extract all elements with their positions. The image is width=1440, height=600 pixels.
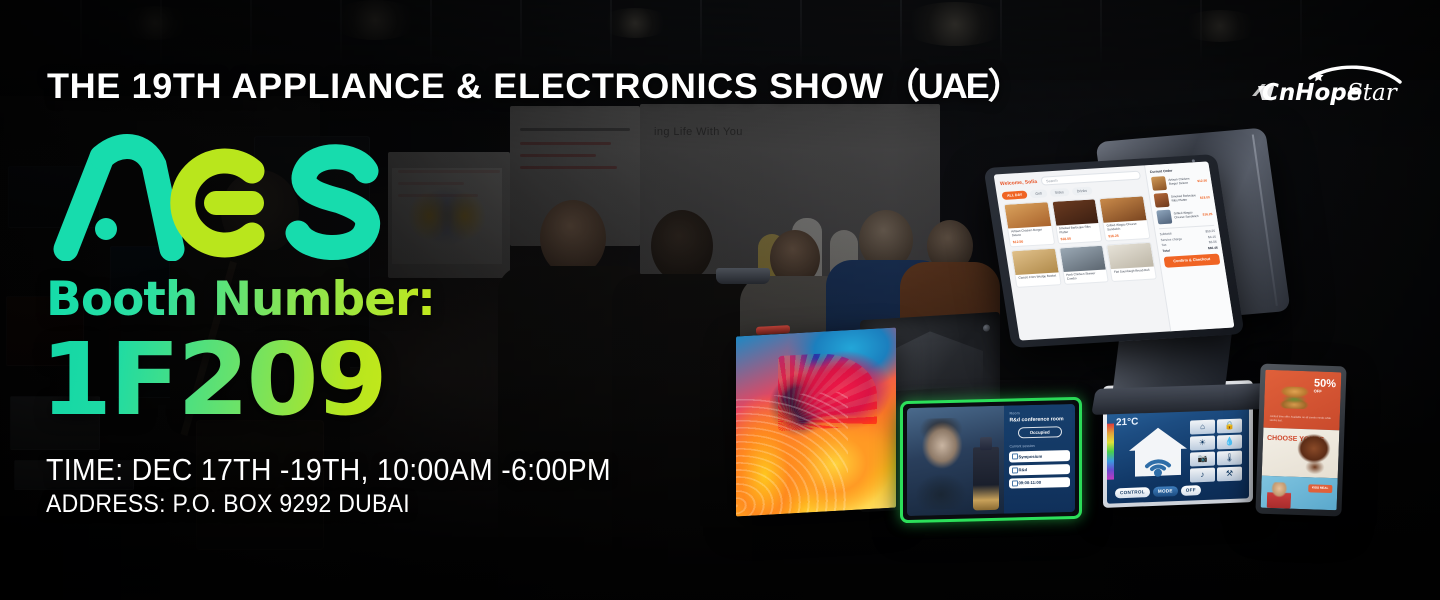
event-time: TIME: DEC 17TH -19TH, 10:00AM -6:00PM (46, 452, 611, 488)
order-line[interactable]: Smoked Barbeque Ribs Platter $18.00 (1153, 190, 1211, 207)
meat-graphic (1294, 433, 1335, 476)
pos-terminal: Welcome, Sofia Search ALL DAY Grill Side… (990, 138, 1320, 388)
headline-region: （UAE） (884, 67, 1022, 106)
total-value: $4.15 (1208, 234, 1217, 238)
menu-item-image (1004, 202, 1050, 228)
total-value: $59.25 (1205, 229, 1215, 234)
room-tablet-media (907, 406, 1004, 516)
off-button[interactable]: OFF (1181, 485, 1201, 496)
pos-search-input[interactable]: Search (1040, 171, 1141, 186)
total-label: Tax (1161, 243, 1167, 247)
portrait-graphic (911, 417, 971, 509)
pos-menu-area: Welcome, Sofia Search ALL DAY Grill Side… (994, 165, 1170, 340)
booth-number-value: 1F209 (40, 330, 385, 430)
led-display-panel (736, 328, 896, 517)
control-button[interactable]: CONTROL (1115, 487, 1150, 499)
room-name: R&d conference room (1009, 416, 1070, 423)
mode-button[interactable]: MODE (1153, 486, 1178, 497)
menu-item-name: Flat Sourdough Bread Roll (1111, 267, 1155, 277)
headline-text: THE 19TH APPLIANCE & ELECTRONICS SHOW (47, 67, 884, 106)
room-caption: Room (1009, 410, 1070, 415)
trade-show-banner: ing Life With You (0, 0, 1440, 600)
signage-middle-section: CHOOSE YOURS (1262, 428, 1340, 479)
aes-wordmark (44, 133, 384, 261)
perfume-bottle-graphic (973, 447, 998, 510)
color-strip (1107, 423, 1114, 479)
order-line[interactable]: Artisan Chicken Burger Deluxe $12.50 (1151, 174, 1209, 191)
order-item-thumb (1156, 210, 1172, 225)
signage-stand (716, 268, 770, 284)
event-address: ADDRESS: P.O. BOX 9292 DUBAI (46, 490, 410, 519)
session-caption: Current session (1009, 443, 1070, 448)
discount-value: 50% OFF (1314, 379, 1336, 393)
product-showcase: Room R&d conference room Occupied Curren… (700, 120, 1440, 600)
menu-item-name: Classic Fries Wedge Basket (1016, 272, 1060, 282)
menu-item-image (1012, 249, 1058, 275)
pos-menu-grid: Artisan Chicken Burger Deluxe $12.50 Smo… (1003, 195, 1156, 287)
pos-tab-sides[interactable]: Sides (1049, 188, 1069, 197)
menu-item-price: $12.50 (1010, 237, 1054, 246)
total-label: Service charge (1160, 236, 1182, 241)
menu-item-image (1100, 196, 1146, 222)
menu-item-price: $18.00 (1058, 234, 1102, 243)
room-status-badge[interactable]: Occupied (1018, 426, 1062, 438)
session-item[interactable]: Symposium (1009, 450, 1070, 462)
promo-note: Limited time offer. Available on all com… (1270, 415, 1334, 424)
menu-item-card[interactable]: Artisan Chicken Burger Deluxe $12.50 (1003, 201, 1055, 247)
booth-number-label: Booth Number: (46, 272, 435, 327)
grand-total-value: $66.46 (1208, 245, 1218, 250)
menu-item-card[interactable]: Grilled Wagyu Cheese Sandwich $16.25 (1099, 195, 1151, 241)
room-booking-tablet[interactable]: Room R&d conference room Occupied Curren… (900, 397, 1082, 523)
menu-item-card[interactable]: Classic Fries Wedge Basket (1011, 248, 1062, 288)
thermometer-icon[interactable]: 🌡 (1217, 451, 1242, 466)
pos-main-display[interactable]: Welcome, Sofia Search ALL DAY Grill Side… (983, 154, 1244, 348)
session-item[interactable]: R&d (1009, 464, 1070, 476)
session-item[interactable]: 09:00-11:00 (1009, 477, 1070, 489)
order-item-name: Grilled Wagyu Cheese Sandwich (1174, 211, 1201, 220)
order-item-price: $16.25 (1202, 212, 1212, 217)
pos-tab-drinks[interactable]: Drinks (1071, 187, 1092, 196)
order-item-name: Artisan Chicken Burger Deluxe (1168, 178, 1195, 187)
music-icon[interactable]: ♪ (1190, 468, 1215, 483)
svg-text:Star: Star (1347, 80, 1399, 106)
signage-promo-section: 50% OFF Limited time offer. Available on… (1263, 370, 1341, 431)
menu-item-image (1060, 246, 1106, 272)
kids-meal-tag: KIDS MEAL (1308, 485, 1333, 494)
checkout-button[interactable]: Confirm & Checkout (1163, 253, 1220, 267)
droplet-icon[interactable]: 💧 (1217, 435, 1242, 450)
child-graphic (1267, 482, 1292, 509)
menu-item-card[interactable]: Flat Sourdough Bread Roll (1106, 242, 1157, 282)
house-wifi-icon (1125, 423, 1191, 482)
order-item-price: $12.50 (1197, 179, 1207, 184)
menu-item-card[interactable]: Herb Chicken Skewer Combo (1058, 245, 1109, 285)
menu-item-image (1107, 243, 1153, 269)
order-line[interactable]: Grilled Wagyu Cheese Sandwich $16.25 (1156, 207, 1214, 224)
menu-item-price: $16.25 (1105, 231, 1149, 240)
total-label: Subtotal (1159, 232, 1171, 237)
order-item-price: $18.00 (1200, 195, 1210, 200)
total-value: $3.06 (1208, 240, 1217, 244)
bulb-icon[interactable]: ☀ (1190, 436, 1215, 451)
burger-graphic (1278, 386, 1311, 409)
camera-icon[interactable]: 📷 (1190, 452, 1215, 467)
order-item-thumb (1153, 193, 1169, 208)
home-control-icon-grid: ⌂ 🔒 ☀ 💧 📷 🌡 ♪ ⚒ (1190, 419, 1242, 483)
menu-item-name: Herb Chicken Skewer Combo (1063, 269, 1108, 283)
pos-tab-all-day[interactable]: ALL DAY (1001, 191, 1028, 200)
lock-icon[interactable]: 🔒 (1217, 419, 1242, 434)
pos-greeting: Welcome, Sofia (1000, 178, 1038, 186)
home-icon[interactable]: ⌂ (1190, 420, 1215, 435)
menu-item-card[interactable]: Smoked Barbeque Ribs Platter $18.00 (1051, 198, 1103, 244)
home-control-buttons: CONTROL MODE OFF (1115, 485, 1201, 498)
order-item-thumb (1151, 176, 1167, 191)
room-tablet-panel: Room R&d conference room Occupied Curren… (1004, 404, 1075, 514)
signage-kids-section: KIDS MEAL (1261, 476, 1338, 510)
grand-total-label: Total (1162, 248, 1170, 252)
order-totals: Subtotal $59.25 Service charge $4.15 Tax… (1159, 225, 1218, 253)
event-headline: THE 19TH APPLIANCE & ELECTRONICS SHOW（UA… (47, 58, 1022, 109)
digital-menu-signage[interactable]: 50% OFF Limited time offer. Available on… (1255, 364, 1346, 517)
pos-tab-grill[interactable]: Grill (1030, 189, 1048, 198)
order-title: Current Order (1150, 167, 1206, 174)
menu-item-image (1052, 199, 1098, 225)
order-item-name: Smoked Barbeque Ribs Platter (1171, 195, 1198, 204)
cnhopestar-logo[interactable]: CnHope Star (1244, 60, 1404, 108)
led-ripple-pattern (736, 391, 848, 516)
tools-icon[interactable]: ⚒ (1217, 467, 1242, 482)
